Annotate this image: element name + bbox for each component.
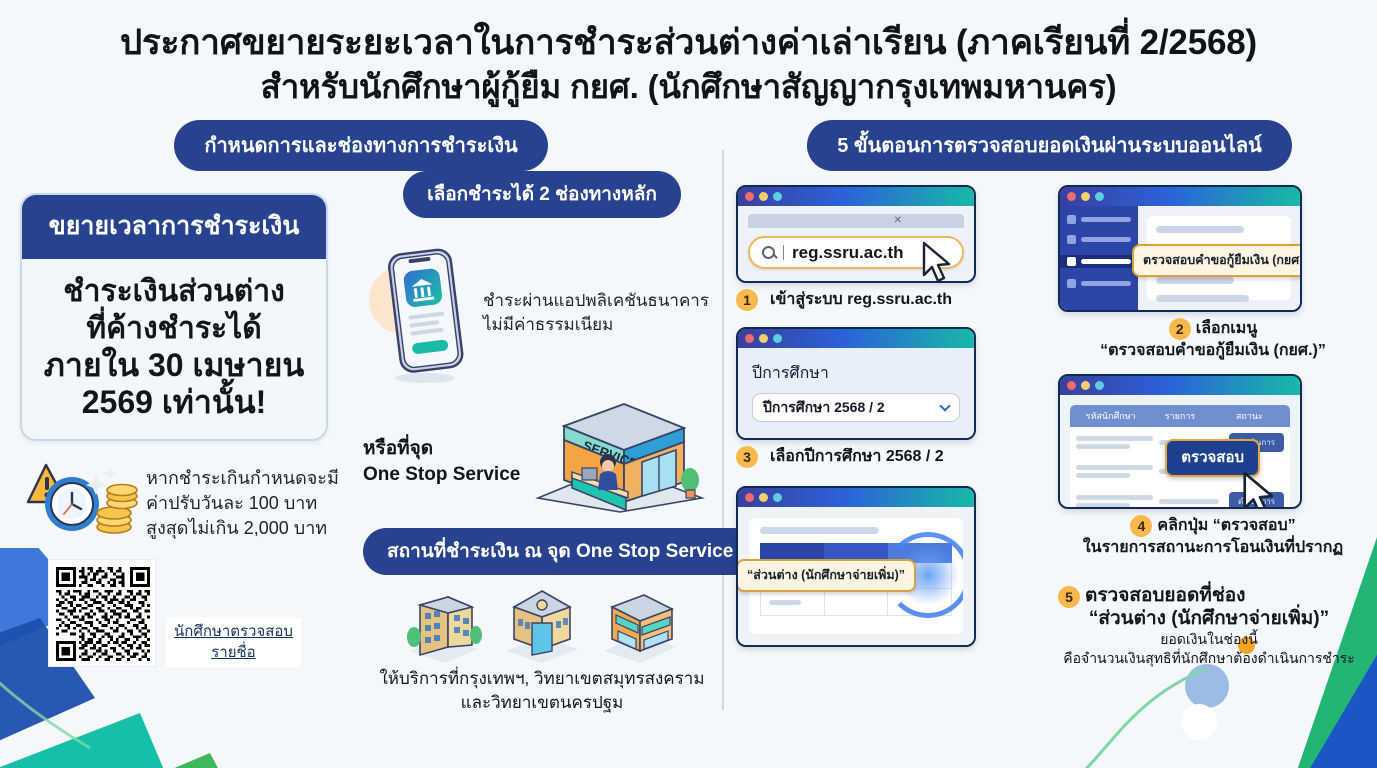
infographic-page: ประกาศขยายระยะเวลาในการชำระส่วนต่างค่าเล… (0, 0, 1377, 768)
step2-app-body: ตรวจสอบคำขอกู้ยืมเงิน (กยศ.) (1060, 206, 1300, 310)
step4-table-body: รหัสนักศึกษา รายการ สถานะ ดำเนินการ (1060, 395, 1300, 507)
deadline-line1: ชำระเงินส่วนต่าง (30, 273, 318, 310)
step3-caption-text: เลือกปีการศึกษา 2568 / 2 (770, 446, 944, 468)
oss-line2: One Stop Service (363, 462, 520, 488)
window-maximize-dot[interactable] (1095, 192, 1104, 201)
step5-number: 5 (1058, 586, 1080, 608)
venue-caption: ให้บริการที่กรุงเทพฯ, วิทยาเขตสมุทรสงครา… (363, 667, 721, 715)
window-maximize-dot[interactable] (1095, 381, 1104, 390)
mouse-cursor-icon (1240, 471, 1280, 509)
step3-caption: 3 เลือกปีการศึกษา 2568 / 2 (736, 446, 1040, 468)
step5-caption-row1: 5ตรวจสอบยอดที่ช่อง (1050, 585, 1368, 608)
step2-caption: 2เลือกเมนู “ตรวจสอบคำขอกู้ยืมเงิน (กยศ.)… (1058, 318, 1368, 362)
left-pill-row: กำหนดการและช่องทางการชำระเงิน (0, 120, 722, 171)
qr-caption[interactable]: นักศึกษาตรวจสอบ รายชื่อ (166, 618, 301, 667)
content-columns: กำหนดการและช่องทางการชำระเงิน ขยายเวลากา… (0, 120, 1377, 715)
penalty-icons (26, 457, 142, 549)
left-section-pill: กำหนดการและช่องทางการชำระเงิน (174, 120, 547, 171)
venue-caption-line2: และวิทยาเขตนครปฐม (363, 691, 721, 715)
academic-year-select[interactable]: ปีการศึกษา 2568 / 2 (752, 393, 960, 422)
sidebar-item[interactable] (1067, 215, 1131, 224)
right-column: 5 ขั้นตอนการตรวจสอบยอดเงินผ่านระบบออนไลน… (722, 120, 1377, 715)
office-building-icon (402, 585, 486, 665)
window-maximize-dot[interactable] (773, 493, 782, 502)
window-close-dot[interactable] (1067, 192, 1076, 201)
step1-caption: 1 เข้าสู่ระบบ reg.ssru.ac.th (736, 289, 1040, 311)
window-maximize-dot[interactable] (773, 192, 782, 201)
deadline-card: ขยายเวลาการชำระเงิน ชำระเงินส่วนต่าง ที่… (20, 193, 328, 441)
deadline-line3: ภายใน 30 เมษายน (30, 347, 318, 384)
channel-bank-app: ชำระผ่านแอปพลิเคชันธนาคาร ไม่มีค่าธรรมเน… (363, 238, 721, 388)
channel-app-line2: ไม่มีค่าธรรมเนียม (483, 313, 709, 337)
step-2: ตรวจสอบคำขอกู้ยืมเงิน (กยศ.) 2เลือกเมนู … (1058, 185, 1368, 362)
channel-app-line1: ชำระผ่านแอปพลิเคชันธนาคาร (483, 289, 709, 313)
venue-pill-row: สถานที่ชำระเงิน ณ จุด One Stop Service (363, 528, 721, 575)
sidebar-item[interactable] (1067, 279, 1131, 288)
venue-pill: สถานที่ชำระเงิน ณ จุด One Stop Service (363, 528, 757, 575)
step5-title-bar (738, 488, 974, 507)
step2-sidebar (1060, 206, 1138, 310)
sidebar-item-active[interactable] (1060, 255, 1138, 268)
step2-caption-line1: เลือกเมนู (1196, 320, 1258, 337)
penalty-line2: ค่าปรับวันละ 100 บาท (146, 491, 339, 516)
window-close-dot[interactable] (745, 192, 754, 201)
step2-number: 2 (1169, 318, 1191, 340)
academic-year-label: ปีการศึกษา (752, 361, 960, 386)
step5-caption-line3: ยอดเงินในช่องนี้ (1050, 630, 1368, 649)
qr-caption-line2: รายชื่อ (174, 642, 293, 663)
step3-form-body: ปีการศึกษา ปีการศึกษา 2568 / 2 (738, 348, 974, 438)
qr-caption-line1: นักศึกษาตรวจสอบ (174, 621, 293, 642)
tab-close-icon[interactable]: ✕ (894, 215, 902, 226)
step-5-window: “ส่วนต่าง (นักศึกษาจ่ายเพิ่ม)” (736, 486, 1040, 647)
penalty-line3: สูงสุดไม่เกิน 2,000 บาท (146, 516, 339, 541)
page-title-line2: สำหรับนักศึกษาผู้กู้ยืม กยศ. (นักศึกษาสั… (0, 66, 1377, 108)
left-subcolumn-deadline: ขยายเวลาการชำระเงิน ชำระเงินส่วนต่าง ที่… (8, 171, 363, 715)
window-close-dot[interactable] (745, 493, 754, 502)
left-subcolumn-channels: เลือกชำระได้ 2 ช่องทางหลัก (363, 171, 721, 715)
table-cell (825, 589, 889, 615)
step4-caption-line2: ในรายการสถานะการโอนเงินที่ปรากฏ (1058, 537, 1368, 559)
window-close-dot[interactable] (745, 334, 754, 343)
window-minimize-dot[interactable] (759, 493, 768, 502)
step-1: ✕ reg.ssru.ac.th (736, 185, 1040, 311)
step4-caption: 4คลิกปุ่ม “ตรวจสอบ” ในรายการสถานะการโอนเ… (1058, 515, 1368, 559)
step2-browser-window: ตรวจสอบคำขอกู้ยืมเงิน (กยศ.) (1058, 185, 1302, 312)
table-header-cell-1: รหัสนักศึกษา (1076, 409, 1145, 423)
table-header-row: รหัสนักศึกษา รายการ สถานะ (1070, 405, 1290, 427)
step4-caption-row1: 4คลิกปุ่ม “ตรวจสอบ” (1058, 515, 1368, 537)
step5-table-body: “ส่วนต่าง (นักศึกษาจ่ายเพิ่ม)” (738, 507, 974, 645)
venue-caption-line1: ให้บริการที่กรุงเทพฯ, วิทยาเขตสมุทรสงครา… (363, 667, 721, 691)
title-block: ประกาศขยายระยะเวลาในการชำระส่วนต่างค่าเล… (0, 0, 1377, 108)
penalty-text: หากชำระเกินกำหนดจะมี ค่าปรับวันละ 100 บา… (146, 466, 339, 541)
deadline-card-header: ขยายเวลาการชำระเงิน (22, 195, 326, 259)
window-minimize-dot[interactable] (1081, 192, 1090, 201)
steps-column-odd: ✕ reg.ssru.ac.th (722, 185, 1040, 668)
step1-tab-bar: ✕ (748, 214, 964, 228)
table-header-cell-2: รายการ (1145, 409, 1214, 423)
search-icon (762, 246, 775, 259)
service-booth-illustration: SERVICE (524, 394, 710, 514)
step2-tooltip: ตรวจสอบคำขอกู้ยืมเงิน (กยศ.) (1132, 244, 1302, 277)
url-value: reg.ssru.ac.th (792, 243, 904, 263)
placeholder-line (760, 527, 879, 534)
shop-building-icon (598, 585, 682, 665)
step4-number: 4 (1130, 515, 1152, 537)
step1-title-bar (738, 187, 974, 206)
step5-caption-line4: คือจำนวนเงินสุทธิที่นักศึกษาต้องดำเนินกา… (1050, 649, 1368, 668)
steps-column-even: ตรวจสอบคำขอกู้ยืมเงิน (กยศ.) 2เลือกเมนู … (1050, 185, 1368, 668)
channel-bank-app-text: ชำระผ่านแอปพลิเคชันธนาคาร ไม่มีค่าธรรมเน… (483, 289, 709, 337)
qr-code[interactable] (48, 559, 156, 667)
deadline-line2: ที่ค้างชำระได้ (30, 310, 318, 347)
left-body: ขยายเวลาการชำระเงิน ชำระเงินส่วนต่าง ที่… (0, 171, 722, 715)
steps-section-pill: 5 ขั้นตอนการตรวจสอบยอดเงินผ่านระบบออนไลน… (807, 120, 1292, 171)
channel-one-stop-service: หรือที่จุด One Stop Service SERVICE (363, 394, 721, 514)
chevron-down-icon (939, 400, 950, 411)
step-3: ปีการศึกษา ปีการศึกษา 2568 / 2 3 เลือกปี… (736, 327, 1040, 468)
text-caret (783, 245, 784, 260)
step3-number: 3 (736, 446, 758, 468)
mouse-cursor-icon (920, 241, 956, 283)
table-header-cell-3: สถานะ (1215, 409, 1284, 423)
step2-caption-line2: “ตรวจสอบคำขอกู้ยืมเงิน (กยศ.)” (1058, 340, 1368, 362)
oss-line1: หรือที่จุด (363, 436, 520, 462)
window-close-dot[interactable] (1067, 381, 1076, 390)
step1-caption-text: เข้าสู่ระบบ reg.ssru.ac.th (770, 289, 952, 311)
step5-tooltip: “ส่วนต่าง (นักศึกษาจ่ายเพิ่ม)” (736, 559, 916, 592)
window-minimize-dot[interactable] (759, 192, 768, 201)
step2-caption-row1: 2เลือกเมนู (1058, 318, 1368, 340)
window-minimize-dot[interactable] (759, 334, 768, 343)
left-column: กำหนดการและช่องทางการชำระเงิน ขยายเวลากา… (0, 120, 722, 715)
step1-browser-window: ✕ reg.ssru.ac.th (736, 185, 976, 283)
phone-illustration (369, 238, 477, 388)
step-4: รหัสนักศึกษา รายการ สถานะ ดำเนินการ (1058, 374, 1368, 559)
step4-title-bar (1060, 376, 1300, 395)
window-minimize-dot[interactable] (1081, 381, 1090, 390)
step5-caption-line1: ตรวจสอบยอดที่ช่อง (1085, 585, 1245, 606)
step5-browser-window: “ส่วนต่าง (นักศึกษาจ่ายเพิ่ม)” (736, 486, 976, 647)
step5-caption-line2: “ส่วนต่าง (นักศึกษาจ่ายเพิ่ม)” (1050, 608, 1368, 630)
right-pill-row: 5 ขั้นตอนการตรวจสอบยอดเงินผ่านระบบออนไลน… (722, 120, 1377, 171)
step3-title-bar (738, 329, 974, 348)
qr-row: นักศึกษาตรวจสอบ รายชื่อ (48, 559, 363, 667)
window-maximize-dot[interactable] (773, 334, 782, 343)
venue-building-icons (363, 585, 721, 665)
sidebar-item[interactable] (1067, 235, 1131, 244)
step3-browser-window: ปีการศึกษา ปีการศึกษา 2568 / 2 (736, 327, 976, 440)
step1-number: 1 (736, 289, 758, 311)
step1-browser-body: ✕ reg.ssru.ac.th (738, 206, 974, 281)
table-cell (761, 589, 825, 615)
steps-grid: ✕ reg.ssru.ac.th (722, 171, 1377, 668)
page-title-line1: ประกาศขยายระยะเวลาในการชำระส่วนต่างค่าเล… (0, 22, 1377, 64)
campus-building-icon (500, 585, 584, 665)
penalty-row: หากชำระเกินกำหนดจะมี ค่าปรับวันละ 100 บา… (26, 457, 363, 549)
deadline-line4: 2569 เท่านั้น! (30, 384, 318, 421)
step5-caption: 5ตรวจสอบยอดที่ช่อง “ส่วนต่าง (นักศึกษาจ่… (1050, 585, 1368, 668)
penalty-line1: หากชำระเกินกำหนดจะมี (146, 466, 339, 491)
deadline-card-body: ชำระเงินส่วนต่าง ที่ค้างชำระได้ ภายใน 30… (22, 259, 326, 439)
academic-year-value: ปีการศึกษา 2568 / 2 (763, 397, 885, 419)
oss-label: หรือที่จุด One Stop Service (363, 436, 520, 514)
channels-pill: เลือกชำระได้ 2 ช่องทางหลัก (403, 171, 681, 218)
coins-icon (97, 485, 137, 534)
step2-title-bar (1060, 187, 1300, 206)
step4-caption-line1: คลิกปุ่ม “ตรวจสอบ” (1157, 517, 1295, 534)
step4-browser-window: รหัสนักศึกษา รายการ สถานะ ดำเนินการ (1058, 374, 1302, 509)
